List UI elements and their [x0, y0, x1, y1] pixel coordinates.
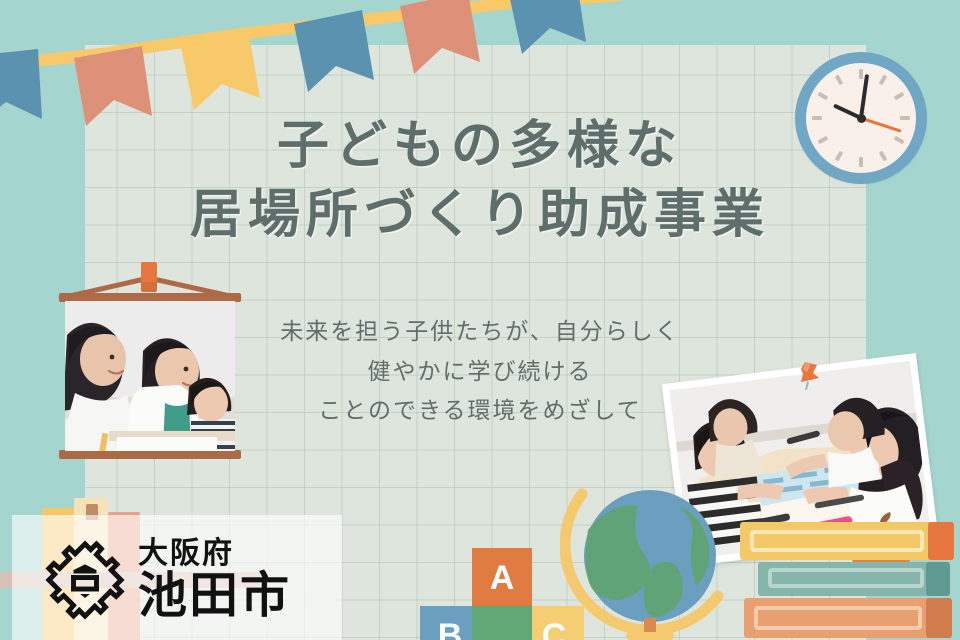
- logo-prefecture: 大阪府: [138, 539, 291, 569]
- page-title: 子どもの多様な 居場所づくり助成事業: [0, 112, 960, 249]
- clock-tick: [859, 69, 863, 79]
- block-letter-c: C: [524, 606, 584, 640]
- block-letter-a: A: [472, 548, 532, 608]
- stacked-books: [740, 518, 960, 640]
- photo-clothespin: [141, 262, 157, 292]
- ikeda-city-crest: [44, 539, 126, 621]
- poster-canvas: 子どもの多様な 居場所づくり助成事業 未来を担う子供たちが、自分らしく 健やかに…: [0, 0, 960, 640]
- abc-alphabet-blocks: A B C: [420, 548, 580, 640]
- title-line-1: 子どもの多様な: [0, 112, 960, 181]
- bunting-flag-blue-2: [294, 10, 374, 92]
- block-letter-b: B: [420, 606, 480, 640]
- logo-city: 池田市: [138, 572, 291, 621]
- logo-text: 大阪府 池田市: [138, 539, 291, 621]
- clock-tick: [818, 92, 829, 100]
- clock-tick: [879, 75, 887, 86]
- photo-image-left: [65, 301, 235, 451]
- pushpin-icon: [795, 360, 823, 390]
- clock-tick: [835, 75, 843, 86]
- globe-icon: [560, 478, 740, 640]
- classroom-students-photo: [55, 262, 245, 467]
- bunting-flag-yellow-1: [180, 28, 260, 110]
- photo-bottom-bar: [59, 450, 241, 459]
- title-line-2: 居場所づくり助成事業: [0, 181, 960, 250]
- clock-tick: [894, 92, 905, 100]
- ikeda-city-logo: 大阪府 池田市: [44, 530, 344, 630]
- block-green: [472, 606, 532, 640]
- bunting-flag-blue-3: [508, 0, 586, 54]
- bunting-flag-salmon-2: [400, 0, 480, 74]
